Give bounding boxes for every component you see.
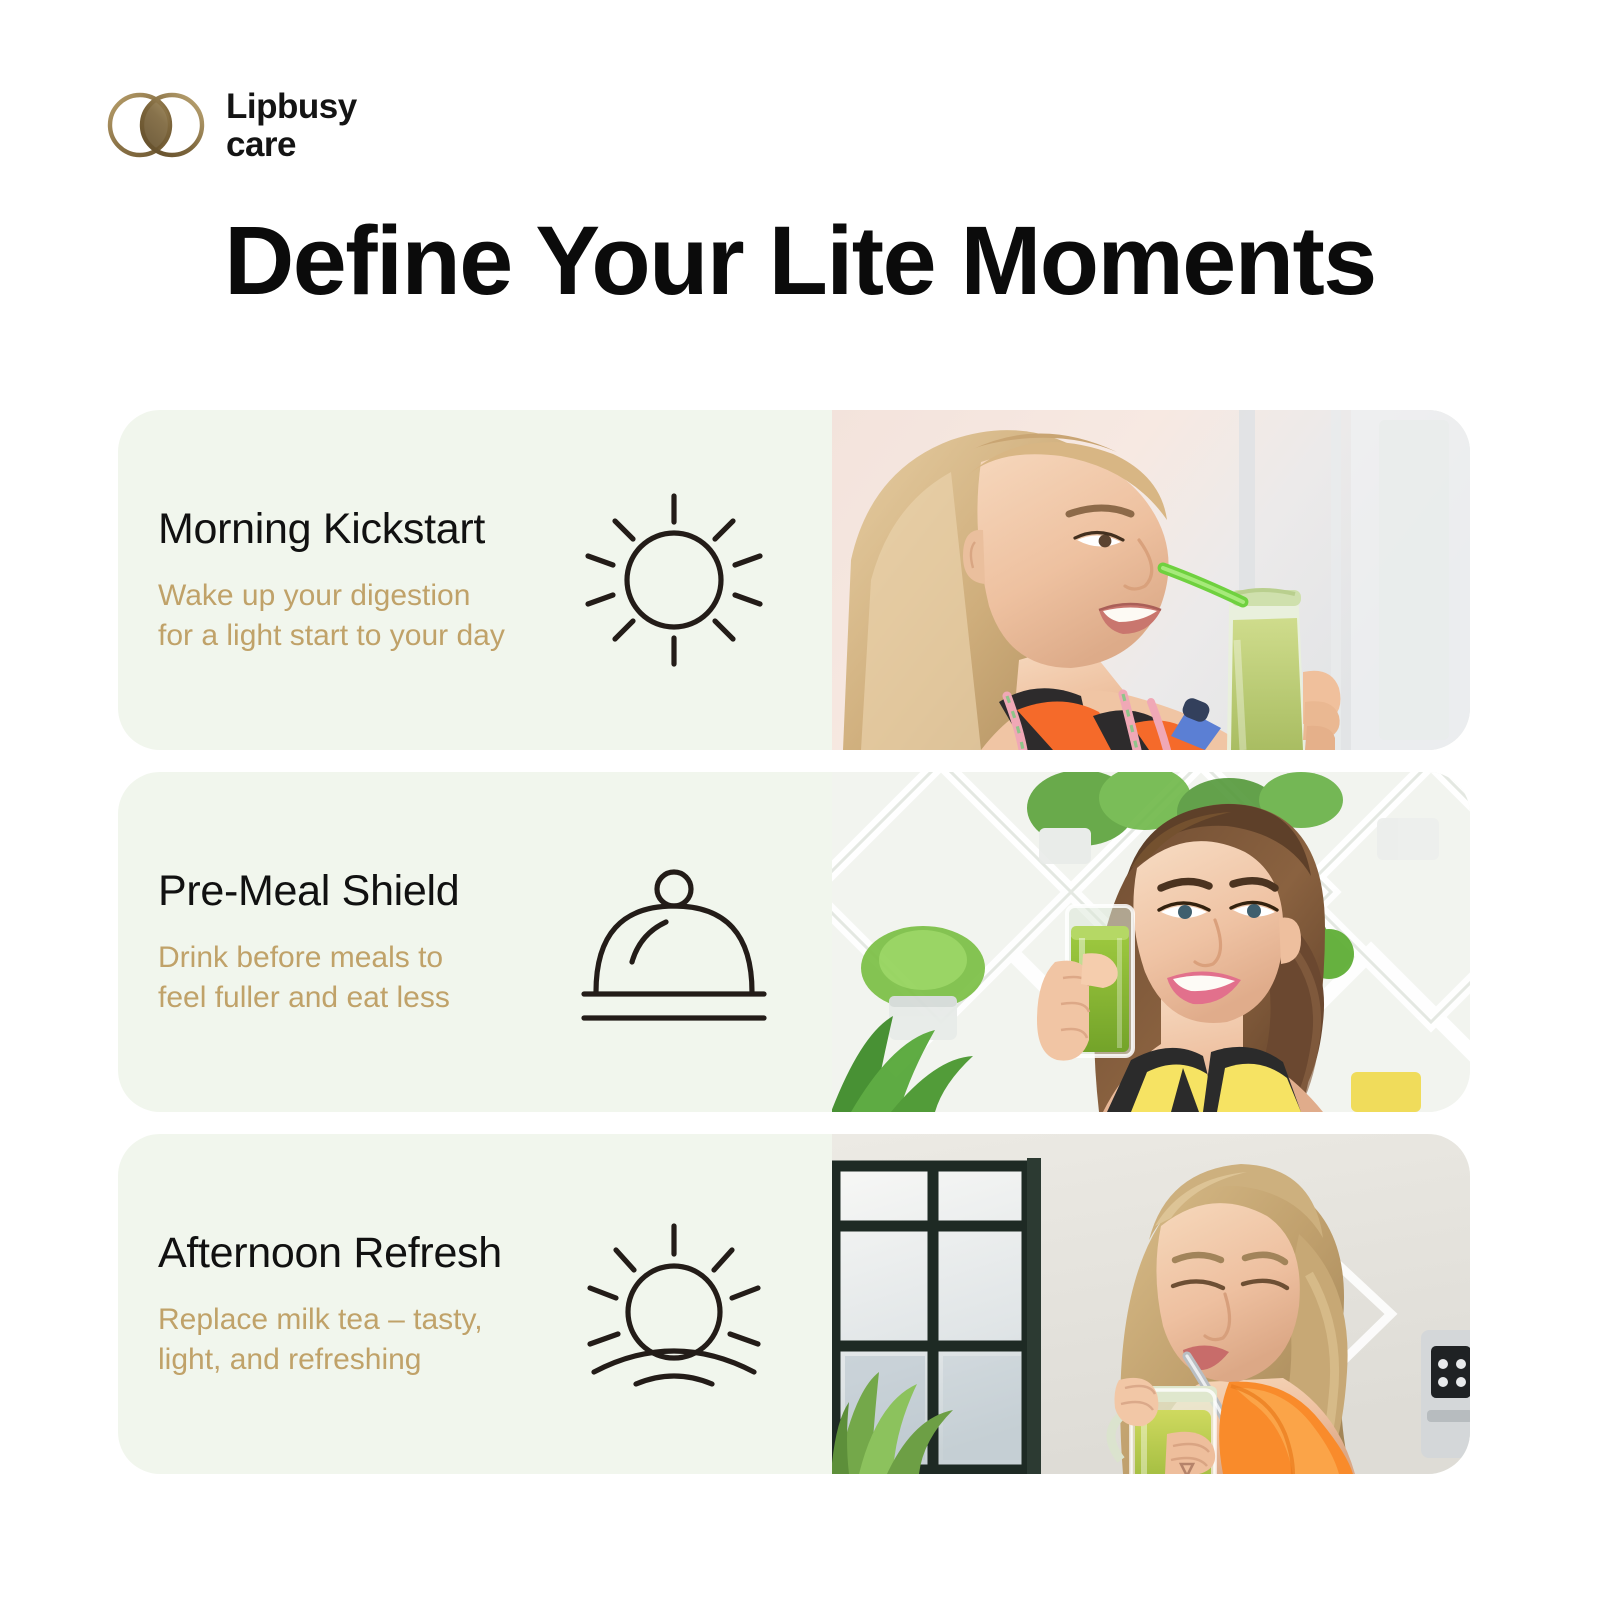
card-subtitle: Drink before meals to feel fuller and ea…	[158, 938, 459, 1017]
photo-woman-green-juice-glass	[832, 772, 1470, 1112]
card-subtitle-line-1: Replace milk tea – tasty,	[158, 1300, 502, 1340]
moment-card-morning-kickstart: Morning Kickstart Wake up your digestion…	[118, 410, 1470, 750]
card-text-block: Afternoon Refresh Replace milk tea – tas…	[158, 1229, 502, 1379]
brand-name-line-1: Lipbusy	[226, 89, 357, 124]
sunrise-icon	[574, 1204, 774, 1404]
card-content-morning-kickstart: Morning Kickstart Wake up your digestion…	[118, 410, 832, 750]
brand-logo: Lipbusy care	[100, 88, 357, 161]
card-text-block: Pre-Meal Shield Drink before meals to fe…	[158, 867, 459, 1017]
card-content-afternoon-refresh: Afternoon Refresh Replace milk tea – tas…	[118, 1134, 832, 1474]
page-title: Define Your Lite Moments	[0, 205, 1600, 317]
card-title: Pre-Meal Shield	[158, 867, 459, 916]
card-title: Morning Kickstart	[158, 505, 505, 554]
card-photo-afternoon-refresh	[832, 1134, 1470, 1474]
card-subtitle-line-2: feel fuller and eat less	[158, 978, 459, 1018]
card-subtitle-line-1: Drink before meals to	[158, 938, 459, 978]
moments-card-list: Morning Kickstart Wake up your digestion…	[118, 410, 1470, 1474]
card-subtitle-line-2: for a light start to your day	[158, 616, 505, 656]
card-subtitle: Wake up your digestion for a light start…	[158, 576, 505, 655]
photo-woman-mason-jar-smoothie	[832, 1134, 1470, 1474]
brand-name-line-2: care	[226, 127, 357, 162]
card-photo-morning-kickstart	[832, 410, 1470, 750]
card-subtitle: Replace milk tea – tasty, light, and ref…	[158, 1300, 502, 1379]
card-subtitle-line-2: light, and refreshing	[158, 1340, 502, 1380]
moment-card-afternoon-refresh: Afternoon Refresh Replace milk tea – tas…	[118, 1134, 1470, 1474]
moment-card-pre-meal-shield: Pre-Meal Shield Drink before meals to fe…	[118, 772, 1470, 1112]
photo-woman-smoothie-bottle	[832, 410, 1470, 750]
card-subtitle-line-1: Wake up your digestion	[158, 576, 505, 616]
brand-wordmark: Lipbusy care	[226, 89, 357, 162]
card-text-block: Morning Kickstart Wake up your digestion…	[158, 505, 505, 655]
card-content-pre-meal-shield: Pre-Meal Shield Drink before meals to fe…	[118, 772, 832, 1112]
two-overlapping-rings-logo-icon	[100, 90, 212, 160]
card-photo-pre-meal-shield	[832, 772, 1470, 1112]
card-title: Afternoon Refresh	[158, 1229, 502, 1278]
food-cloche-icon	[574, 842, 774, 1042]
sun-icon	[574, 480, 774, 680]
